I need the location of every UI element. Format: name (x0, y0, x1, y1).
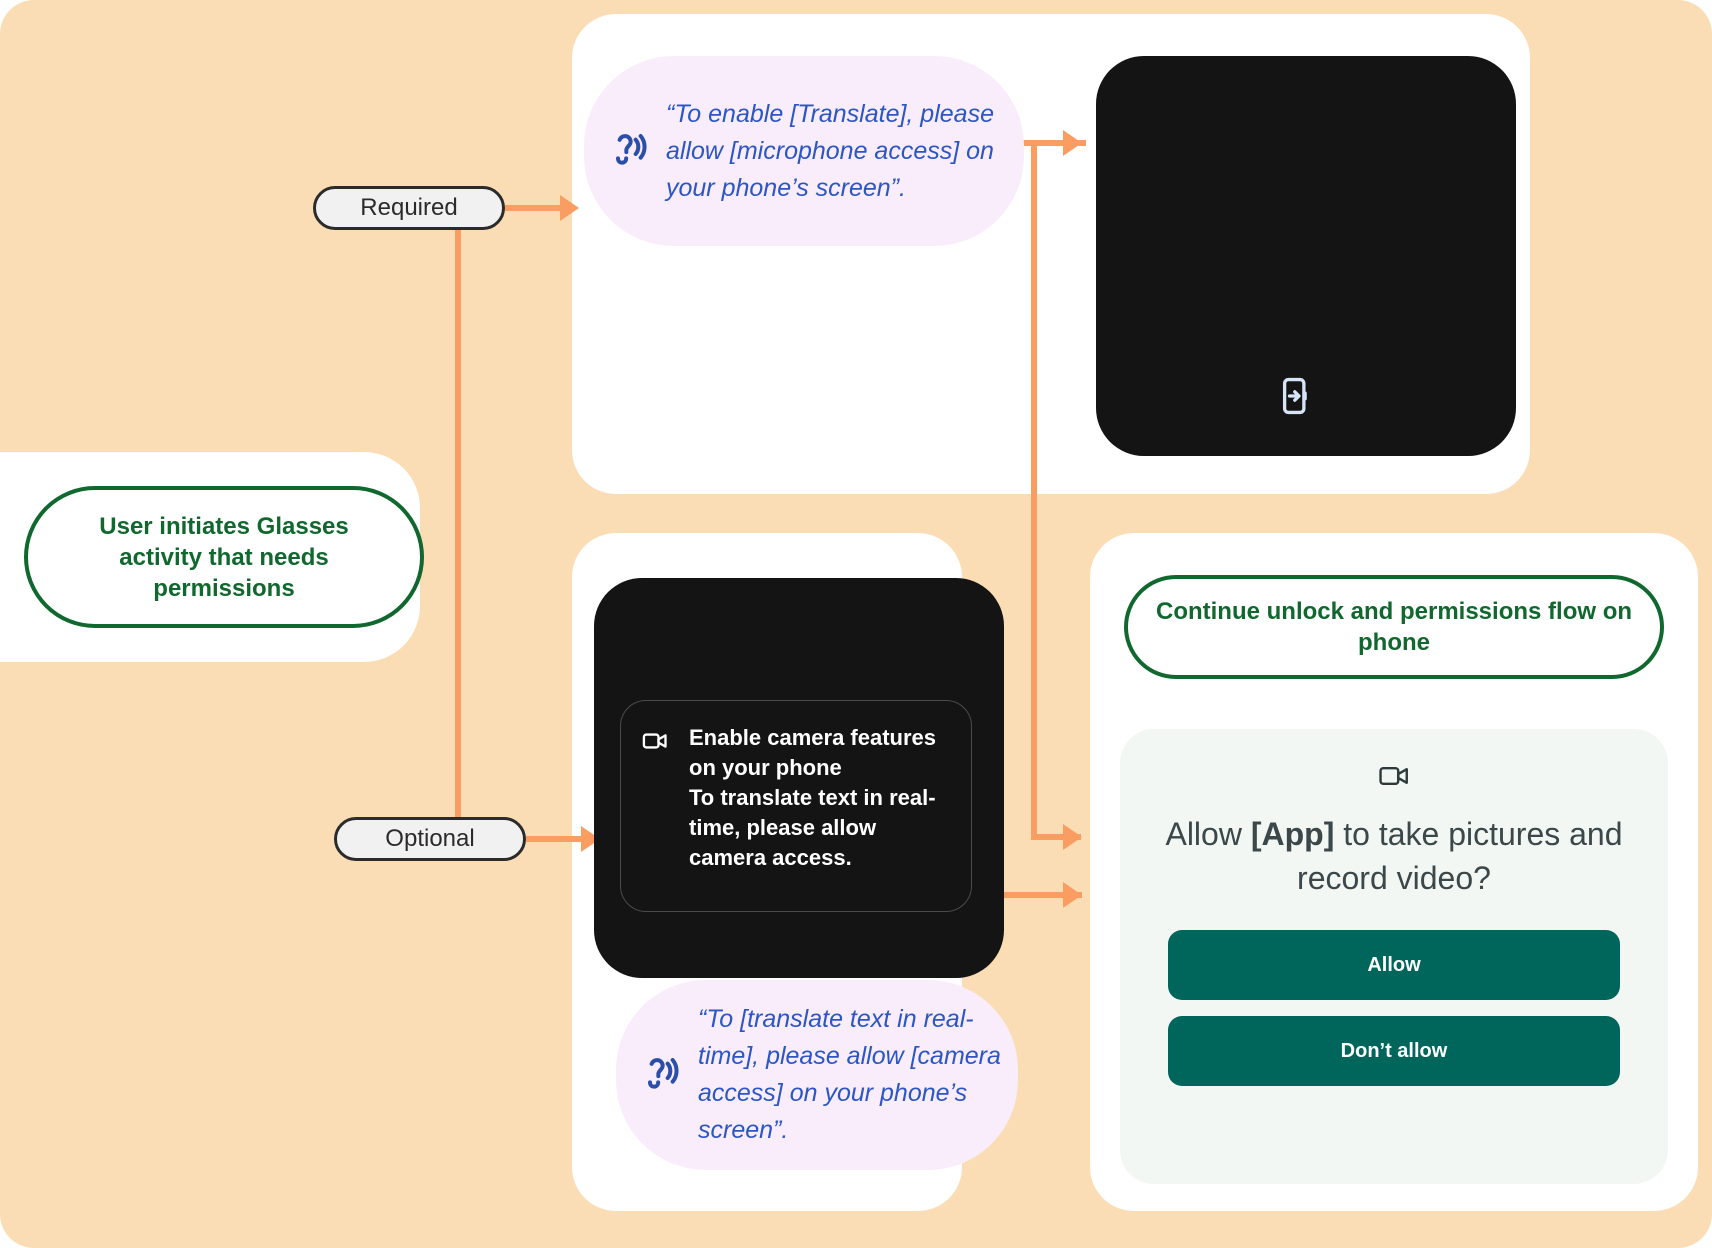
branch-pill-optional-label: Optional (385, 825, 474, 853)
start-node-label: User initiates Glasses activity that nee… (65, 511, 383, 604)
video-camera-icon (1377, 759, 1411, 798)
notification-card-body: Enable camera features on your phone To … (689, 723, 951, 889)
arrowhead-to-required (560, 195, 579, 221)
continue-flow-label: Continue unlock and permissions flow on … (1154, 596, 1634, 658)
permission-dialog: Allow [App] to take pictures and record … (1120, 729, 1668, 1184)
connector-spine-vertical (455, 208, 461, 848)
notification-card-camera: Enable camera features on your phone To … (620, 700, 972, 912)
connector-device-to-dialog-vertical (1031, 140, 1037, 840)
permission-question-app: [App] (1251, 816, 1335, 852)
speech-bubble-microphone-text: “To enable [Translate], please allow [mi… (666, 96, 1024, 207)
branch-pill-required-label: Required (360, 194, 457, 222)
start-node: User initiates Glasses activity that nee… (24, 486, 424, 628)
notification-title: Enable camera features on your phone (689, 725, 936, 780)
permission-question-suffix: to take pictures and record video? (1297, 816, 1622, 896)
speech-bubble-microphone: “To enable [Translate], please allow [mi… (584, 56, 1024, 246)
video-camera-icon (641, 727, 669, 889)
dont-allow-button-label: Don’t allow (1341, 1040, 1448, 1063)
branch-pill-optional[interactable]: Optional (334, 817, 526, 861)
branch-pill-required[interactable]: Required (313, 186, 505, 230)
diagram-canvas: User initiates Glasses activity that nee… (0, 0, 1712, 1248)
permission-question: Allow [App] to take pictures and record … (1159, 812, 1629, 900)
notification-body: To translate text in real-time, please a… (689, 785, 936, 870)
arrowhead-dialog-lower (1063, 882, 1082, 908)
continue-flow-node: Continue unlock and permissions flow on … (1124, 575, 1664, 679)
connector-to-optional (526, 836, 588, 842)
dont-allow-button[interactable]: Don’t allow (1168, 1016, 1620, 1086)
arrowhead-dialog-upper (1063, 824, 1082, 850)
ear-hearing-icon (608, 129, 648, 174)
allow-button-label: Allow (1367, 954, 1420, 977)
ear-hearing-icon (640, 1053, 680, 1098)
arrowhead-device-top (1063, 130, 1082, 156)
phone-continue-arrow-icon (1275, 375, 1317, 422)
speech-bubble-camera-text: “To [translate text in real-time], pleas… (698, 1001, 1018, 1149)
speech-bubble-camera: “To [translate text in real-time], pleas… (616, 980, 1018, 1170)
permission-question-prefix: Allow (1165, 816, 1250, 852)
allow-button[interactable]: Allow (1168, 930, 1620, 1000)
connector-to-required (505, 205, 567, 211)
